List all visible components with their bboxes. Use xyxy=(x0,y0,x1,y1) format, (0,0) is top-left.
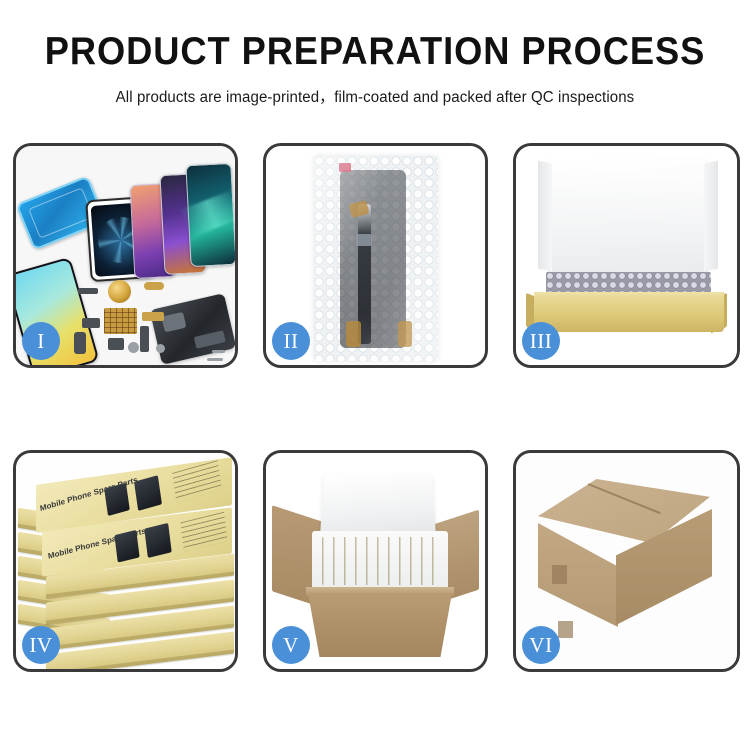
step-badge-2: II xyxy=(272,322,310,360)
step-badge-5: V xyxy=(272,626,310,664)
process-step-panel-1[interactable]: I xyxy=(13,143,238,368)
step-badge-3: III xyxy=(522,322,560,360)
step-badge-4: IV xyxy=(22,626,60,664)
plastic-gloss-overlay xyxy=(314,156,438,361)
carton-tape-lower xyxy=(558,621,573,638)
phone-display-teal xyxy=(185,163,235,267)
step-badge-6: VI xyxy=(522,626,560,664)
process-step-grid: I II III xyxy=(13,143,740,672)
step-badge-1: I xyxy=(22,322,60,360)
kraft-box-front xyxy=(534,298,724,332)
stacked-yellow-boxes xyxy=(322,537,438,585)
page-title: PRODUCT PREPARATION PROCESS xyxy=(26,32,724,71)
process-step-panel-3[interactable]: III xyxy=(513,143,740,368)
chip-component xyxy=(104,308,137,334)
carton-front-wall xyxy=(308,593,452,657)
page-header: PRODUCT PREPARATION PROCESS All products… xyxy=(0,0,750,107)
process-step-panel-6[interactable]: VI xyxy=(513,450,740,672)
bubble-wrap-bag xyxy=(314,156,438,361)
page-subtitle: All products are image-printed，film-coat… xyxy=(11,85,739,107)
carton-tape-upper xyxy=(552,565,567,584)
process-step-panel-2[interactable]: II xyxy=(263,143,488,368)
white-box-lid xyxy=(548,158,708,278)
coil-component xyxy=(108,280,131,303)
process-step-panel-5[interactable]: V xyxy=(263,450,488,672)
foam-cooler-lid xyxy=(320,473,436,538)
process-step-panel-4[interactable]: Mobile Phone Spare Parts Mobile Phone Sp… xyxy=(13,450,238,672)
